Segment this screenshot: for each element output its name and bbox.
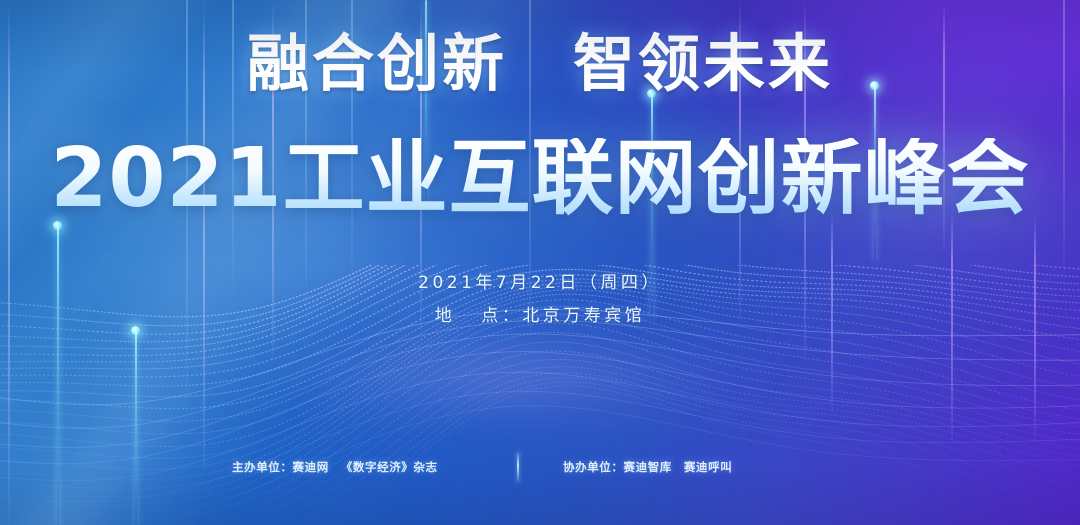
venue-label: 地	[435, 306, 456, 326]
footer-organizer-2: 《数字经济》杂志	[341, 460, 438, 474]
footer-cooperator-label: 协办单位：	[563, 460, 624, 474]
wave-line	[0, 373, 1080, 525]
footer-cooperator-2: 赛迪呼叫	[684, 460, 732, 474]
footer-divider	[517, 452, 519, 482]
headline-left: 融合创新	[247, 27, 507, 100]
venue-label-colon: 点：	[481, 306, 522, 326]
wave-contour-line	[0, 406, 1080, 525]
venue-name: 北京万寿宾馆	[522, 306, 645, 326]
poster-main-title: 2021工业互联网创新峰会	[0, 138, 1080, 220]
footer-organizer-label: 主办单位：	[232, 460, 293, 474]
footer-cooperator: 协办单位：赛迪智库赛迪呼叫	[563, 459, 732, 475]
footer-organizer: 主办单位：赛迪网《数字经济》杂志	[232, 459, 438, 475]
headline-right: 智领未来	[573, 27, 833, 100]
footer-cooperator-1: 赛迪智库	[624, 460, 672, 474]
poster-headline: 融合创新智领未来	[0, 33, 1080, 95]
wave-line	[0, 367, 1080, 525]
wave-line	[0, 382, 1080, 525]
wave-line	[0, 378, 1080, 525]
footer-organizer-1: 赛迪网	[293, 460, 329, 474]
wave-line	[0, 332, 1080, 513]
wave-line	[0, 323, 1080, 505]
event-venue: 地点：北京万寿宾馆	[0, 301, 1080, 326]
wave-contour-line	[0, 391, 1080, 502]
wave-line	[0, 351, 1080, 525]
conference-poster: 融合创新智领未来 2021工业互联网创新峰会 2021年7月22日（周四） 地点…	[0, 0, 1080, 525]
event-date: 2021年7月22日（周四）	[0, 268, 1080, 293]
